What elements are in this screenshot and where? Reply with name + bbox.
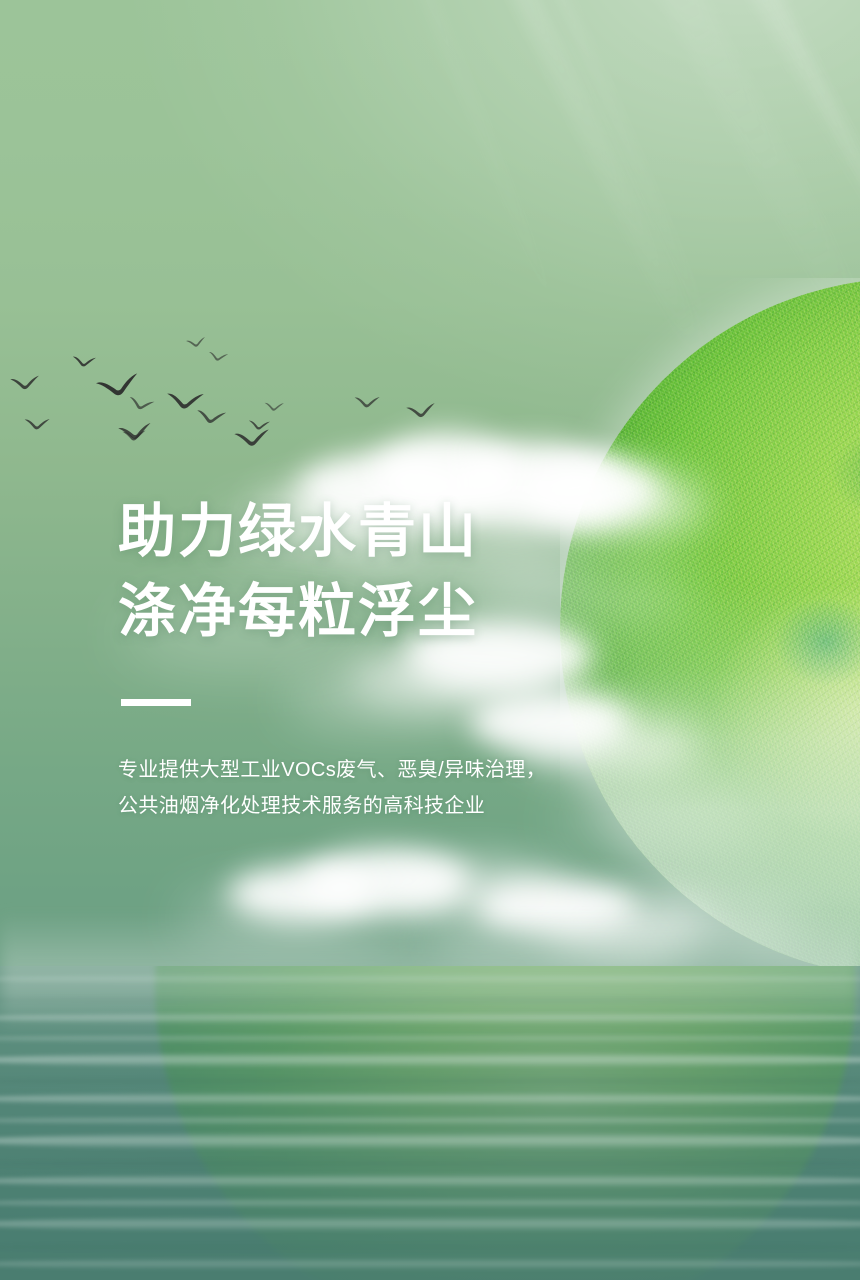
hero-text-block: 助力绿水青山 涤净每粒浮尘 专业提供大型工业VOCs废气、恶臭/异味治理， 公共… xyxy=(118,492,678,824)
subcopy-line-2: 公共油烟净化处理技术服务的高科技企业 xyxy=(118,788,678,824)
divider-rule xyxy=(121,699,191,706)
headline-line-2: 涤净每粒浮尘 xyxy=(118,572,678,652)
water-ripple xyxy=(0,1242,860,1252)
headline-line-1: 助力绿水青山 xyxy=(118,492,678,572)
water-ripple xyxy=(0,1116,860,1125)
water-ripple xyxy=(0,1258,860,1270)
water-ripple xyxy=(0,1174,860,1188)
water-ripple xyxy=(0,1198,860,1208)
water-ripple xyxy=(0,996,860,1004)
water-ripple xyxy=(0,1052,860,1068)
eco-banner-poster: 助力绿水青山 涤净每粒浮尘 专业提供大型工业VOCs废气、恶臭/异味治理， 公共… xyxy=(0,0,860,1280)
water-ripple xyxy=(0,1216,860,1232)
water-ripple xyxy=(0,1012,860,1024)
water-ripple xyxy=(0,1092,860,1106)
subcopy-line-1: 专业提供大型工业VOCs废气、恶臭/异味治理， xyxy=(118,752,678,788)
water-ripple xyxy=(0,974,860,984)
water-ripple xyxy=(0,1132,860,1150)
water-ripple xyxy=(0,1034,860,1043)
water-ripple xyxy=(0,1158,860,1169)
water-ripple xyxy=(0,1076,860,1086)
water-surface xyxy=(0,966,860,1280)
